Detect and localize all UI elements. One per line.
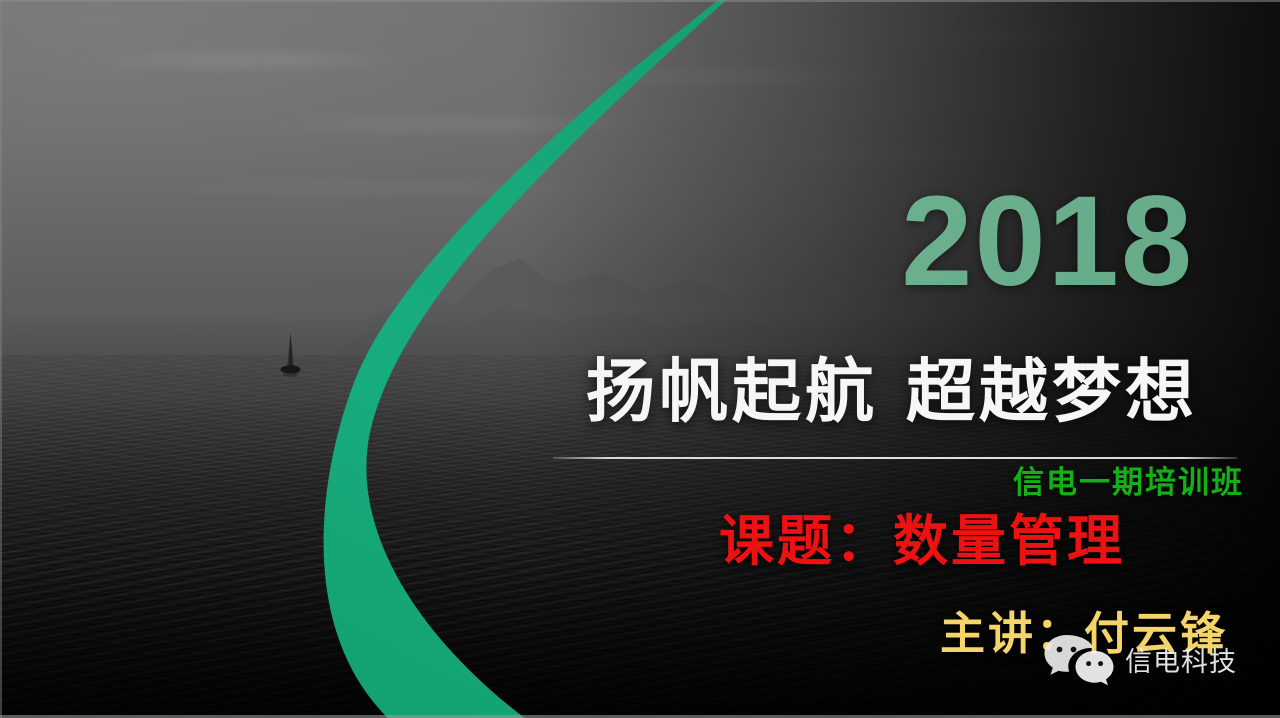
topic-title: 课题：数量管理 <box>719 514 1125 569</box>
year-display: 2018 <box>901 178 1194 306</box>
wechat-account-name: 信电科技 <box>1125 649 1237 676</box>
frame-edge-left <box>0 0 2 718</box>
frame-edge-top <box>0 0 1280 2</box>
training-class-subtitle: 信电一期培训班 <box>1013 468 1244 499</box>
divider-rule <box>553 457 1237 459</box>
wechat-logo-icon <box>1042 632 1116 692</box>
slide-headline: 扬帆起航 超越梦想 <box>586 358 1198 427</box>
presentation-slide: 2018 扬帆起航 超越梦想 信电一期培训班 课题：数量管理 主讲：付云锋 信电… <box>0 0 1280 718</box>
wechat-watermark: 信电科技 <box>1042 632 1237 692</box>
